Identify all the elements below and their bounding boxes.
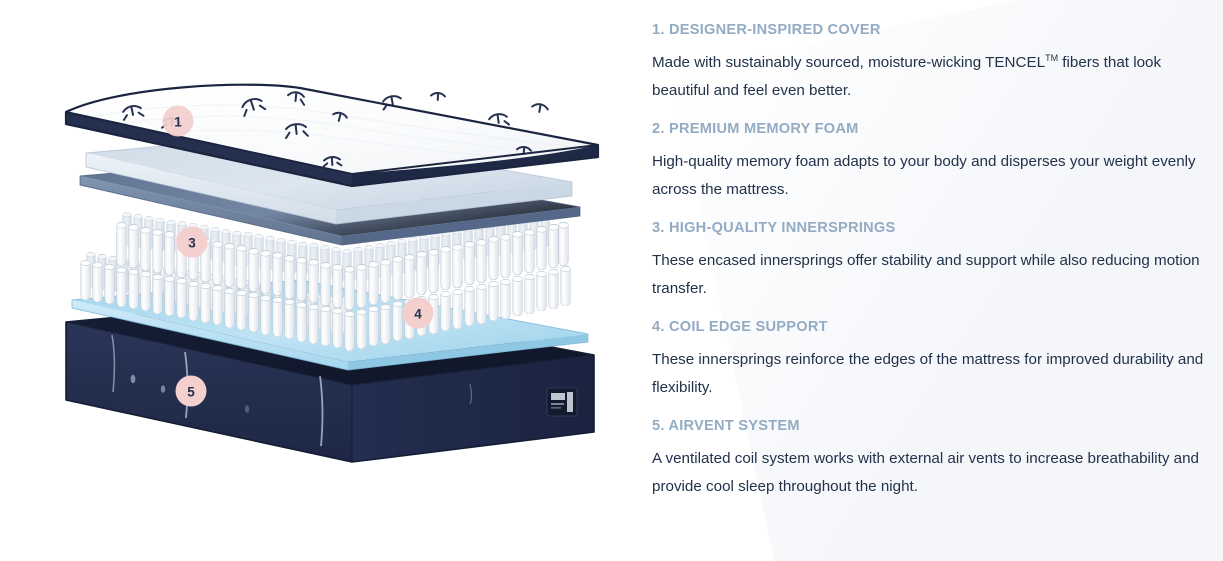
feature-body-3: These encased innersprings offer stabili… [652, 247, 1204, 304]
feature-heading-5: 5. AIRVENT SYSTEM [652, 418, 1204, 436]
feature-item-5: 5. AIRVENT SYSTEM A ventilated coil syst… [652, 418, 1204, 501]
feature-heading-1: 1. DESIGNER-INSPIRED COVER [652, 22, 1204, 40]
feature-body-1: Made with sustainably sourced, moisture-… [652, 49, 1204, 106]
feature-item-4: 4. COIL EDGE SUPPORT These innersprings … [652, 319, 1204, 402]
badge-5: 5 [176, 376, 207, 407]
mattress-label-tag [547, 388, 577, 416]
badge-1: 1 [163, 106, 194, 137]
feature-body-5: A ventilated coil system works with exte… [652, 445, 1204, 502]
feature-body-4: These innersprings reinforce the edges o… [652, 346, 1204, 403]
feature-heading-3: 3. HIGH-QUALITY INNERSPRINGS [652, 220, 1204, 238]
feature-item-1: 1. DESIGNER-INSPIRED COVER Made with sus… [652, 22, 1204, 105]
exploded-mattress-illustration: 5 [0, 0, 640, 561]
svg-text:4: 4 [414, 307, 422, 322]
feature-item-3: 3. HIGH-QUALITY INNERSPRINGS These encas… [652, 220, 1204, 303]
feature-body-2: High-quality memory foam adapts to your … [652, 148, 1204, 205]
features-list: 1. DESIGNER-INSPIRED COVER Made with sus… [652, 22, 1204, 501]
feature-body-1-part1: Made with sustainably sourced, moisture-… [652, 54, 1045, 71]
mattress-layers-infographic: 5 [0, 0, 1223, 561]
svg-text:5: 5 [187, 385, 195, 400]
svg-text:1: 1 [174, 115, 182, 130]
feature-item-2: 2. PREMIUM MEMORY FOAM High-quality memo… [652, 121, 1204, 204]
trademark-symbol: TM [1045, 52, 1058, 62]
feature-heading-4: 4. COIL EDGE SUPPORT [652, 319, 1204, 337]
badge-3: 3 [177, 227, 208, 258]
badge-4: 4 [403, 298, 434, 329]
feature-heading-2: 2. PREMIUM MEMORY FOAM [652, 121, 1204, 139]
svg-text:3: 3 [188, 236, 196, 251]
